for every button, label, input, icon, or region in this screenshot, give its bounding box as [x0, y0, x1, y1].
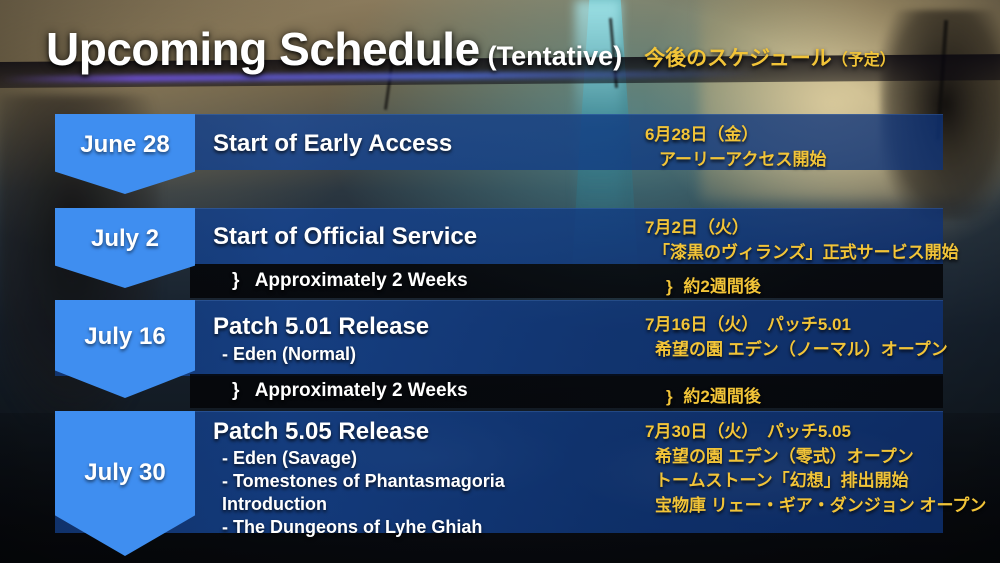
row-jp-line: 7月16日（火） パッチ5.01 — [645, 313, 948, 338]
gap-japanese-label: 約2週間後 — [683, 387, 760, 406]
brace-icon: } — [666, 387, 673, 406]
row-jp-line: 希望の園 エデン（零式）オープン — [645, 445, 986, 470]
date-tab-label: June 28 — [80, 131, 169, 159]
row-item: - Eden (Savage) — [213, 447, 505, 470]
title-main: Upcoming Schedule — [46, 22, 480, 76]
row-item: Introduction — [213, 493, 505, 516]
row-title: Start of Early Access — [213, 130, 452, 158]
row-jp-line: 7月2日（火） — [645, 216, 959, 241]
row-japanese-block: 7月30日（火） パッチ5.05 希望の園 エデン（零式）オープン トームストー… — [645, 420, 986, 519]
gap-english: } Approximately 2 Weeks — [232, 270, 468, 292]
row-jp-line: 宝物庫 リェー・ギア・ダンジョン オープン — [645, 494, 986, 519]
brace-icon: } — [666, 277, 673, 296]
gap-japanese: } 約2週間後 — [666, 382, 761, 407]
gap-japanese-label: 約2週間後 — [683, 277, 760, 296]
gap-english: } Approximately 2 Weeks — [232, 380, 468, 402]
row-japanese-block: 7月2日（火） 「漆黒のヴィランズ」正式サービス開始 — [645, 216, 959, 265]
row-english-block: Start of Early Access — [213, 130, 452, 158]
gap-japanese: } 約2週間後 — [666, 272, 761, 297]
brace-icon: } — [232, 380, 239, 401]
gap-english-label: Approximately 2 Weeks — [255, 270, 468, 291]
row-jp-line: 6月28日（金） — [645, 123, 826, 148]
gap-english-label: Approximately 2 Weeks — [255, 380, 468, 401]
row-jp-line: 7月30日（火） パッチ5.05 — [645, 420, 986, 445]
row-jp-line: 希望の園 エデン（ノーマル）オープン — [645, 338, 948, 363]
row-jp-line: トームストーン「幻想」排出開始 — [645, 469, 986, 494]
row-japanese-block: 7月16日（火） パッチ5.01 希望の園 エデン（ノーマル）オープン — [645, 313, 948, 362]
brace-icon: } — [232, 270, 239, 291]
title-japanese: 今後のスケジュール（予定） — [644, 42, 896, 72]
row-title: Patch 5.05 Release — [213, 418, 505, 446]
page-title: Upcoming Schedule (Tentative) 今後のスケジュール（… — [46, 22, 896, 76]
row-item: - Eden (Normal) — [213, 343, 429, 366]
row-english-block: Patch 5.01 Release - Eden (Normal) — [213, 313, 429, 366]
title-tentative: (Tentative) — [488, 41, 623, 72]
date-tab-label: July 16 — [84, 323, 165, 351]
date-tab-label: July 30 — [84, 459, 165, 487]
row-english-block: Patch 5.05 Release - Eden (Savage) - Tom… — [213, 418, 505, 539]
row-item: - The Dungeons of Lyhe Ghiah — [213, 516, 505, 539]
title-japanese-main: 今後のスケジュール — [644, 47, 832, 70]
slide-root: Upcoming Schedule (Tentative) 今後のスケジュール（… — [0, 0, 1000, 563]
row-title: Start of Official Service — [213, 223, 477, 251]
date-tab-label: July 2 — [91, 225, 159, 253]
row-japanese-block: 6月28日（金） アーリーアクセス開始 — [645, 123, 826, 172]
row-item: - Tomestones of Phantasmagoria — [213, 470, 505, 493]
row-english-block: Start of Official Service — [213, 223, 477, 251]
row-jp-line: アーリーアクセス開始 — [645, 148, 826, 173]
row-jp-line: 「漆黒のヴィランズ」正式サービス開始 — [645, 241, 959, 266]
title-japanese-note: （予定） — [832, 52, 896, 69]
row-title: Patch 5.01 Release — [213, 313, 429, 341]
